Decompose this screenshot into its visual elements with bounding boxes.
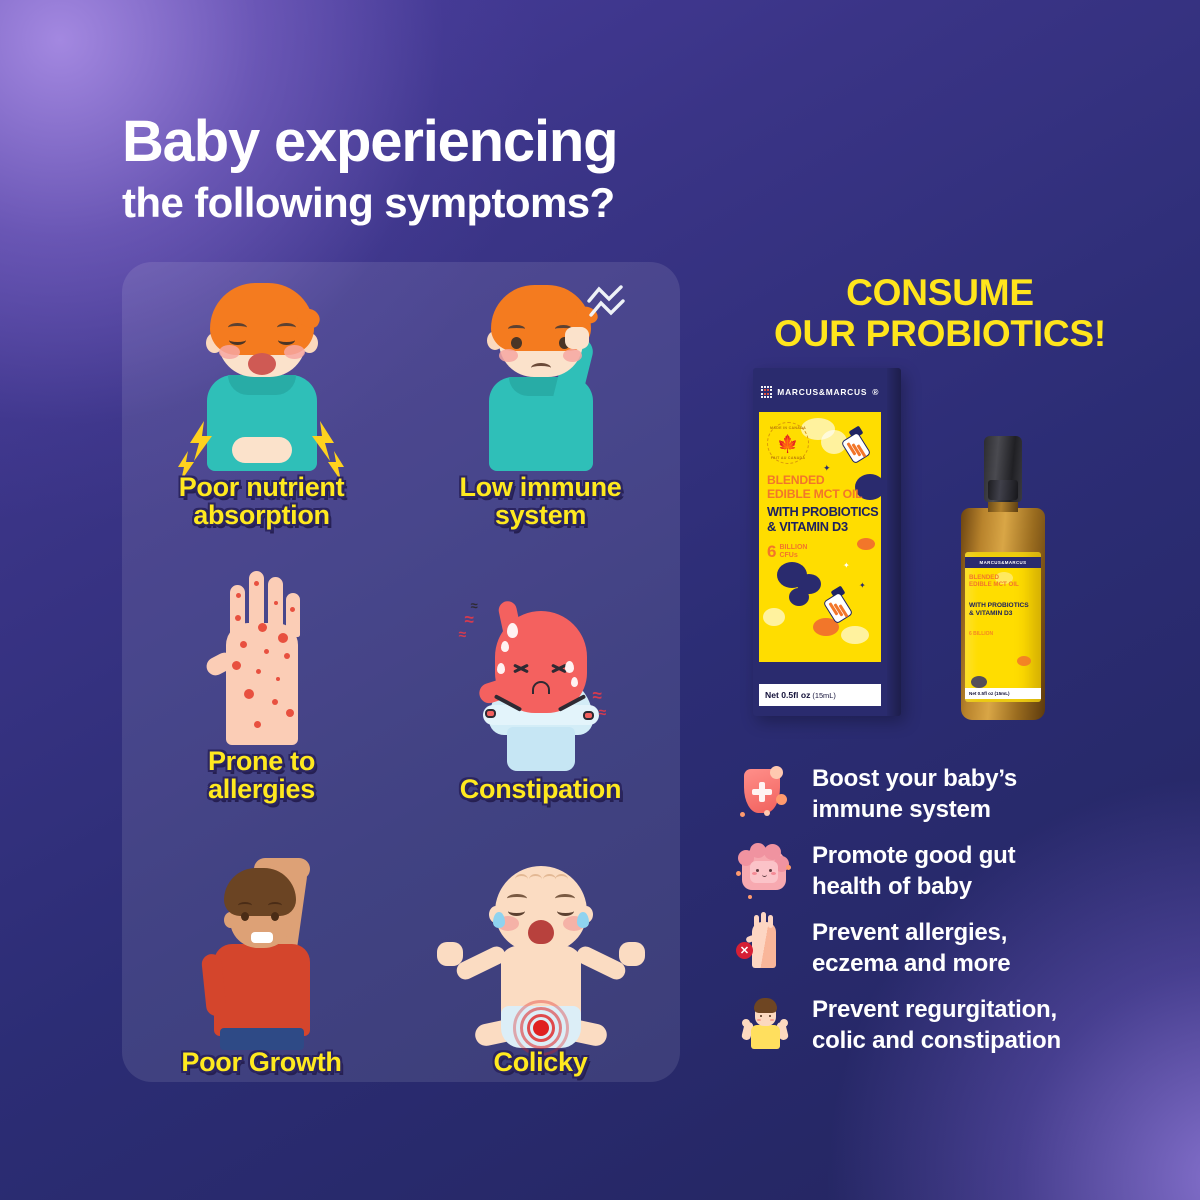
gut-health-icon bbox=[736, 841, 794, 903]
symptom-label-line-1: Constipation bbox=[460, 774, 621, 804]
bottle-subtitle: WITH PROBIOTICS & VITAMIN D3 bbox=[969, 602, 1029, 618]
symptoms-card: Poor nutrient absorption bbox=[122, 262, 680, 1082]
pain-squiggle-icon: ≈ bbox=[459, 627, 467, 641]
maple-leaf-icon: 🍁 bbox=[777, 435, 798, 452]
symptom-label-line-1: Prone to bbox=[208, 746, 315, 776]
symptom-item-poor-growth: Poor Growth bbox=[122, 809, 401, 1082]
symptom-label-line-2: system bbox=[495, 500, 586, 530]
seal-text-bottom: FAIT AU CANADA bbox=[767, 456, 809, 460]
dropper-bottle-graphic-icon bbox=[825, 588, 851, 622]
symptoms-grid: Poor nutrient absorption bbox=[122, 262, 680, 1082]
symptom-item-colicky: Colicky bbox=[401, 809, 680, 1082]
symptom-item-poor-nutrient-absorption: Poor nutrient absorption bbox=[122, 262, 401, 535]
symptom-label-line-1: Low immune bbox=[459, 472, 621, 502]
benefit-text: Prevent allergies, eczema and more bbox=[812, 918, 1010, 978]
symptom-label: Low immune system bbox=[459, 473, 621, 529]
symptom-label-line-2: allergies bbox=[208, 774, 315, 804]
seal-text-top: MADE IN CANADA bbox=[767, 426, 809, 430]
symptom-label-line-1: Poor nutrient bbox=[179, 472, 345, 502]
symptom-item-prone-to-allergies: Prone to allergies bbox=[122, 535, 401, 808]
bottle-title: BLENDED EDIBLE MCT OIL bbox=[969, 574, 1019, 589]
product-copy: BLENDED EDIBLE MCT OIL WITH PROBIOTICS &… bbox=[767, 474, 879, 560]
bottle-brand-name: MARCUS&MARCUS bbox=[980, 560, 1027, 565]
star-icon: ✦ bbox=[859, 582, 866, 590]
bottle-brand-strip: MARCUS&MARCUS bbox=[965, 557, 1041, 568]
cta-line-2: OUR PROBIOTICS! bbox=[720, 313, 1160, 354]
symptom-label-line-1: Poor Growth bbox=[181, 1047, 341, 1077]
pain-squiggle-icon: ≈ bbox=[599, 705, 607, 719]
bottle-net-volume-strip: Net 0.5fl oz (15mL) bbox=[965, 688, 1041, 699]
stomach-on-toilet-illustration: ≈ ≈ ≈ ≈ ≈ bbox=[401, 577, 680, 773]
pain-squiggle-icon: ≈ bbox=[471, 599, 478, 612]
child-fever-illustration bbox=[401, 275, 680, 471]
symptom-label: Poor Growth bbox=[181, 1048, 341, 1076]
tear-icon bbox=[493, 912, 505, 928]
dizzy-wave-icon bbox=[587, 285, 633, 330]
brand-name: MARCUS&MARCUS bbox=[777, 387, 867, 397]
box-side-shading bbox=[887, 368, 901, 716]
prohibition-badge-icon: ✕ bbox=[736, 942, 753, 959]
benefit-item-immune: Boost your baby’s immune system bbox=[736, 756, 1156, 833]
bottle-cfu: 6 BILLION bbox=[969, 632, 993, 638]
bottle-label: MARCUS&MARCUS BLENDED EDIBLE MCT OIL WIT… bbox=[965, 552, 1041, 702]
pain-center-icon bbox=[533, 1020, 549, 1036]
cfu-number: 6 bbox=[767, 543, 776, 560]
happy-child-icon bbox=[736, 995, 794, 1057]
bottle-cap bbox=[984, 436, 1022, 502]
hand-rash-illustration bbox=[122, 549, 401, 745]
dropper-bottle: MARCUS&MARCUS BLENDED EDIBLE MCT OIL WIT… bbox=[958, 436, 1048, 721]
symptom-label: Poor nutrient absorption bbox=[179, 473, 345, 529]
benefit-item-allergies: ✕ Prevent allergies, eczema and more bbox=[736, 910, 1156, 987]
benefits-list: Boost your baby’s immune system bbox=[736, 756, 1156, 1064]
symptom-label: Constipation bbox=[460, 775, 621, 803]
bottle-net-volume: Net 0.5fl oz (15mL) bbox=[969, 691, 1010, 696]
net-volume-strip: Net 0.5fl oz (15mL) bbox=[759, 684, 881, 706]
product-title: BLENDED EDIBLE MCT OIL bbox=[767, 474, 879, 501]
page-title: Baby experiencing the following symptoms… bbox=[122, 112, 762, 227]
headline-line-2: the following symptoms? bbox=[122, 179, 762, 227]
symptom-label-line-2: absorption bbox=[193, 500, 330, 530]
product-box: MARCUS&MARCUS ® ✦ ✦ ✦ ✦ bbox=[753, 368, 901, 716]
net-volume-metric: (15mL) bbox=[812, 691, 835, 700]
pain-squiggle-icon: ≈ bbox=[593, 687, 602, 704]
cta-line-1: CONSUME bbox=[720, 272, 1160, 313]
marcus-logo-icon bbox=[761, 386, 773, 398]
symptom-item-constipation: ≈ ≈ ≈ ≈ ≈ Constipation bbox=[401, 535, 680, 808]
benefit-item-regurgitation: Prevent regurgitation, colic and constip… bbox=[736, 987, 1156, 1064]
tear-icon bbox=[577, 912, 589, 928]
dropper-bottle-graphic-icon bbox=[843, 428, 869, 462]
symptom-label-line-1: Colicky bbox=[494, 1047, 588, 1077]
symptom-label: Prone to allergies bbox=[208, 747, 315, 803]
net-volume: Net 0.5fl oz bbox=[765, 690, 810, 700]
made-in-canada-seal: MADE IN CANADA 🍁 FAIT AU CANADA bbox=[767, 422, 809, 464]
benefit-item-gut-health: Promote good gut health of baby bbox=[736, 833, 1156, 910]
star-icon: ✦ bbox=[823, 464, 831, 473]
benefit-text: Boost your baby’s immune system bbox=[812, 764, 1017, 824]
infographic-page: Baby experiencing the following symptoms… bbox=[0, 0, 1200, 1200]
star-icon: ✦ bbox=[843, 562, 850, 570]
headline-line-1: Baby experiencing bbox=[122, 112, 762, 171]
product-image: MARCUS&MARCUS ® ✦ ✦ ✦ ✦ bbox=[753, 368, 1093, 736]
shield-immune-icon bbox=[736, 764, 794, 826]
cfu-unit: BILLION CFUs bbox=[779, 544, 807, 559]
cta-headline: CONSUME OUR PROBIOTICS! bbox=[720, 272, 1160, 355]
registered-mark: ® bbox=[872, 387, 879, 397]
product-box-face: ✦ ✦ ✦ ✦ MADE IN CANADA 🍁 FAIT AU CANADA bbox=[759, 412, 881, 662]
brand-lockup: MARCUS&MARCUS ® bbox=[753, 378, 887, 406]
product-subtitle: WITH PROBIOTICS & VITAMIN D3 bbox=[767, 505, 879, 534]
boy-measuring-height-illustration bbox=[122, 850, 401, 1046]
cfu-callout: 6 BILLION CFUs bbox=[767, 543, 879, 560]
no-allergy-hand-icon: ✕ bbox=[736, 918, 794, 980]
symptom-item-low-immune-system: Low immune system bbox=[401, 262, 680, 535]
child-tummy-ache-illustration bbox=[122, 275, 401, 471]
crying-baby-illustration bbox=[401, 850, 680, 1046]
symptom-label: Colicky bbox=[494, 1048, 588, 1076]
benefit-text: Promote good gut health of baby bbox=[812, 841, 1015, 901]
benefit-text: Prevent regurgitation, colic and constip… bbox=[812, 995, 1061, 1055]
